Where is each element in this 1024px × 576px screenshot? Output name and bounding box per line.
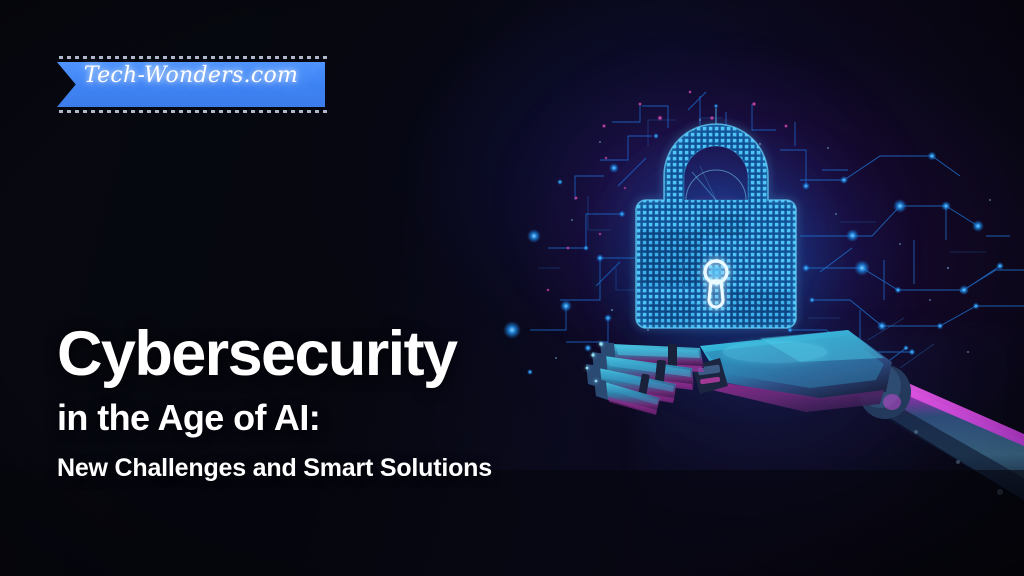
banner-canvas: Tech-Wonders.com Cybersecurity in the Ag… bbox=[0, 0, 1024, 576]
arm-glow bbox=[640, 330, 1024, 576]
headline-tertiary: New Challenges and Smart Solutions bbox=[57, 453, 617, 483]
headline-primary: Cybersecurity bbox=[57, 322, 617, 386]
site-logo[interactable]: Tech-Wonders.com bbox=[57, 56, 329, 114]
headline-secondary: in the Age of AI: bbox=[57, 398, 617, 438]
headline-block: Cybersecurity in the Age of AI: New Chal… bbox=[57, 322, 617, 483]
logo-dashed-line-top bbox=[59, 56, 327, 59]
logo-text: Tech-Wonders.com bbox=[57, 63, 325, 88]
logo-dashed-line-bottom bbox=[59, 110, 327, 113]
